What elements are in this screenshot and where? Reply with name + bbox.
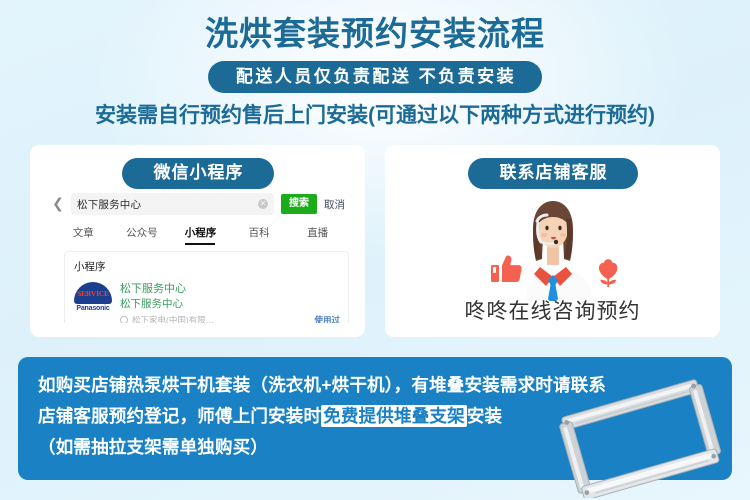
miniprogram-results-panel: 小程序 SERVICE Panasonic 松下服务中心 松下服务中心	[64, 251, 349, 323]
card-contact-service: 联系店铺客服	[385, 145, 720, 337]
wechat-tabs: 文章 公众号 小程序 百科 直播	[52, 225, 349, 245]
results-section-title: 小程序	[74, 259, 340, 274]
banner-highlight: 免费提供堆叠支架	[321, 405, 467, 427]
delivery-notice-badge: 配送人员仅负责配送 不负责安装	[208, 61, 542, 93]
tab-live[interactable]: 直播	[288, 225, 347, 245]
service-badge-icon: SERVICE	[74, 282, 112, 304]
banner-line-2-post: 安装	[467, 406, 502, 426]
service-illustration-area: 咚咚在线咨询预约	[385, 189, 720, 337]
globe-icon	[120, 316, 128, 323]
promo-page: 洗烘套装预约安装流程 配送人员仅负责配送 不负责安装 安装需自行预约售后上门安装…	[0, 0, 750, 500]
result-company: 松下家电(中国)有限…	[132, 314, 214, 323]
headset-agent-illustration	[385, 189, 720, 299]
search-input[interactable]: 松下服务中心 ✕	[71, 193, 274, 215]
card-wechat-title: 微信小程序	[122, 158, 274, 189]
tab-miniprograms[interactable]: 小程序	[171, 225, 230, 245]
page-subtitle: 安装需自行预约售后上门安装(可通过以下两种方式进行预约)	[0, 103, 750, 129]
page-header: 洗烘套装预约安装流程 配送人员仅负责配送 不负责安装 安装需自行预约售后上门安装…	[0, 0, 750, 129]
agent-figure	[526, 201, 592, 301]
list-item[interactable]: SERVICE Panasonic 松下服务中心 松下服务中心 松下家电(中国)…	[74, 282, 340, 323]
header-pill-row: 配送人员仅负责配送 不负责安装	[0, 61, 750, 93]
panasonic-wordmark: Panasonic	[74, 305, 112, 312]
cancel-button[interactable]: 取消	[324, 197, 345, 212]
wechat-screenshot: ❮ 松下服务中心 ✕ 搜索 取消 文章 公众号 小程序 百科 直播 小程	[52, 193, 349, 337]
wechat-search-row: ❮ 松下服务中心 ✕ 搜索 取消	[52, 193, 349, 215]
status-badge: 使用过	[314, 314, 340, 323]
result-meta-row: 松下家电(中国)有限… 使用过	[120, 314, 340, 323]
card-service-title: 联系店铺客服	[468, 158, 638, 189]
result-subtitle: 松下服务中心	[120, 297, 340, 311]
banner-line-3: （如需抽拉支架需单独购买）	[38, 437, 268, 457]
page-title: 洗烘套装预约安装流程	[0, 14, 750, 54]
card-wechat-miniprogram: 微信小程序 ❮ 松下服务中心 ✕ 搜索 取消 文章 公众号 小程序 百科	[30, 145, 365, 337]
service-caption: 咚咚在线咨询预约	[385, 295, 720, 325]
chevron-left-icon[interactable]: ❮	[52, 197, 64, 211]
clear-circle-icon[interactable]: ✕	[258, 199, 268, 209]
cards-row: 微信小程序 ❮ 松下服务中心 ✕ 搜索 取消 文章 公众号 小程序 百科	[30, 145, 720, 337]
banner-text: 如购买店铺热泵烘干机套装（洗衣机+烘干机），有堆叠安装需求时请联系 店铺客服预约…	[38, 370, 708, 463]
banner-line-2-pre: 店铺客服预约登记，师傅上门安装时	[38, 406, 321, 426]
result-title: 松下服务中心	[120, 282, 340, 296]
result-body: 松下服务中心 松下服务中心 松下家电(中国)有限… 使用过	[120, 282, 340, 323]
tab-articles[interactable]: 文章	[54, 225, 113, 245]
search-input-value: 松下服务中心	[77, 197, 141, 212]
banner-line-1: 如购买店铺热泵烘干机套装（洗衣机+烘干机），有堆叠安装需求时请联系	[38, 375, 606, 395]
tab-official-accounts[interactable]: 公众号	[113, 225, 172, 245]
tab-encyclopedia[interactable]: 百科	[230, 225, 289, 245]
thumbs-up-icon	[491, 256, 522, 282]
flower-icon	[599, 259, 617, 287]
search-button[interactable]: 搜索	[281, 194, 317, 214]
panasonic-service-logo: SERVICE Panasonic	[74, 282, 112, 323]
service-badge-text: SERVICE	[74, 289, 112, 298]
stacking-install-banner: 如购买店铺热泵烘干机套装（洗衣机+烘干机），有堆叠安装需求时请联系 店铺客服预约…	[18, 357, 732, 480]
